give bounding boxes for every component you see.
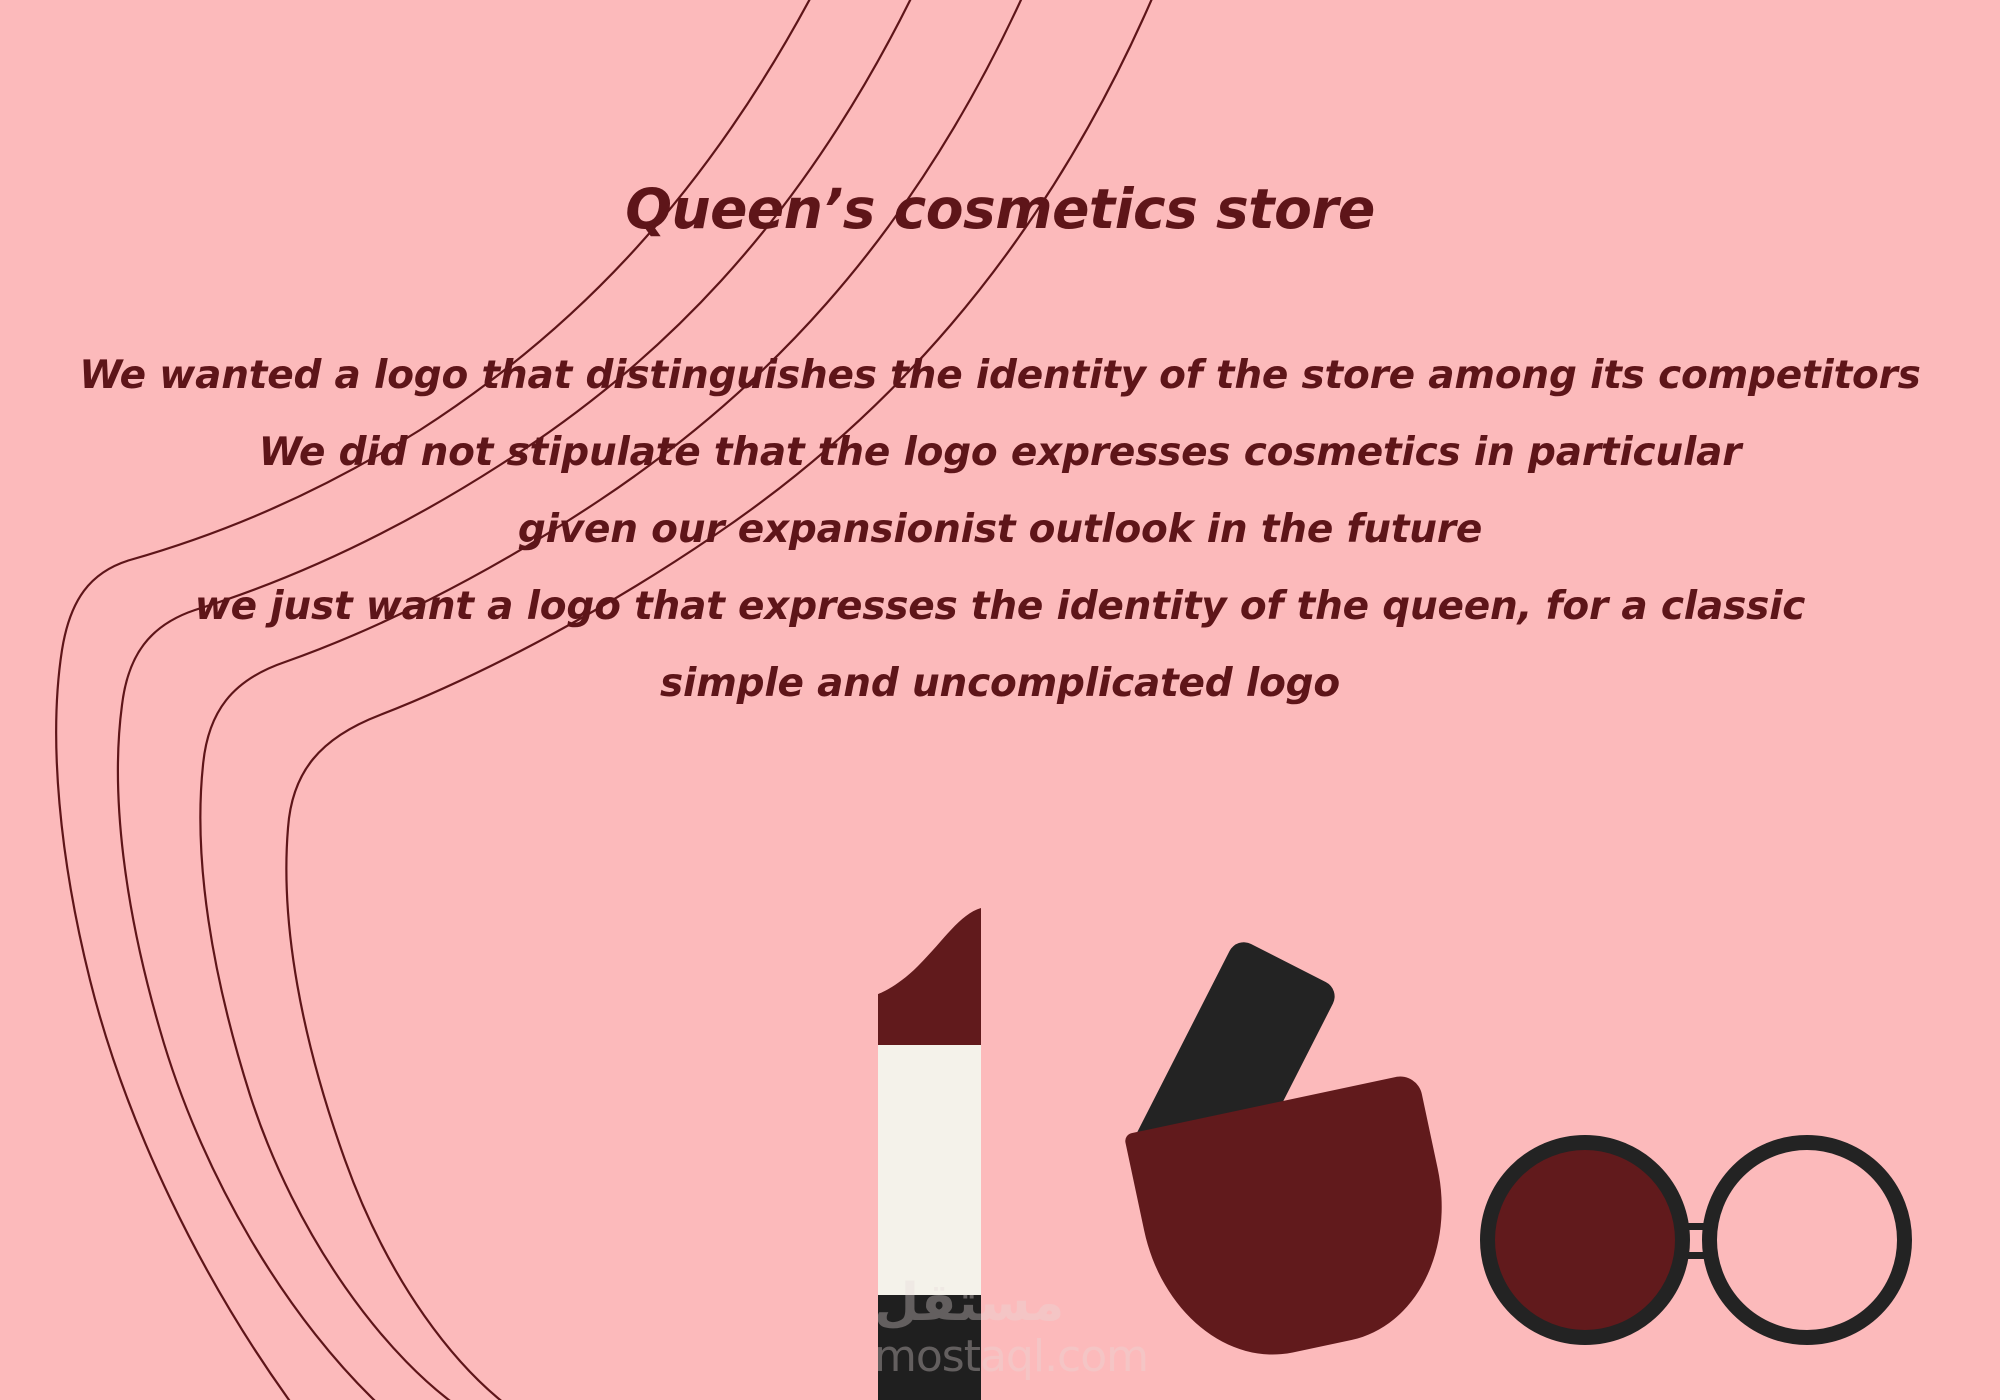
nail-polish-illustration <box>1130 940 1470 1360</box>
compact-powder-pan <box>1480 1135 1690 1345</box>
compact-mirror-lid <box>1702 1135 1912 1345</box>
body-line: We wanted a logo that distinguishes the … <box>0 337 2000 414</box>
poster-text-block: Queen’s cosmetics store We wanted a logo… <box>0 0 2000 722</box>
poster-body-copy: We wanted a logo that distinguishes the … <box>0 237 2000 722</box>
poster-canvas: Queen’s cosmetics store We wanted a logo… <box>0 0 2000 1400</box>
lipstick-illustration <box>878 908 981 1400</box>
lipstick-tip-icon <box>878 908 981 1048</box>
lipstick-base-case <box>878 1295 981 1400</box>
page-title: Queen’s cosmetics store <box>0 0 2000 237</box>
lipstick-bullet-body <box>878 1045 981 1295</box>
powder-compact-illustration <box>1480 1135 1940 1375</box>
body-line: simple and uncomplicated logo <box>0 645 2000 722</box>
body-line: We did not stipulate that the logo expre… <box>0 414 2000 491</box>
body-line: given our expansionist outlook in the fu… <box>0 491 2000 568</box>
body-line: we just want a logo that expresses the i… <box>0 568 2000 645</box>
